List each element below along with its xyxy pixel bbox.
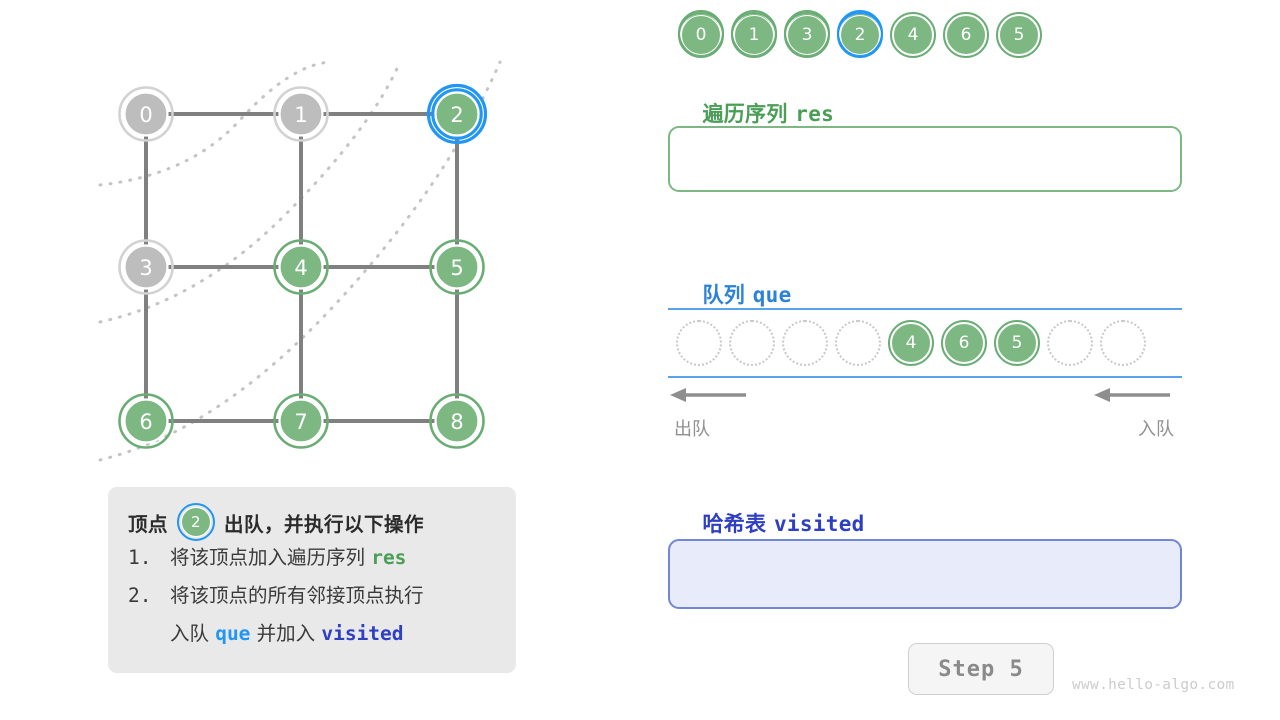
queue-rail-bottom [668, 376, 1182, 378]
chip-label: 5 [999, 15, 1039, 55]
visited-item-0[interactable]: 0 [678, 12, 724, 58]
queue-slot-empty[interactable] [835, 320, 881, 366]
chip-label [732, 323, 772, 363]
chip-label [838, 323, 878, 363]
caption-step-3-code-visited: visited [321, 615, 403, 653]
que-title-cn: 队列 [702, 283, 745, 307]
queue-slots: 465 [676, 310, 1146, 376]
caption-step-2-number: 2. [128, 577, 170, 615]
caption-badge-label: 2 [181, 507, 211, 537]
node-label: 3 [139, 256, 152, 280]
queue-slot-empty[interactable] [676, 320, 722, 366]
chip-label: 0 [681, 15, 721, 55]
caption-step-1-code: res [371, 539, 406, 577]
graph-node-4[interactable]: 4 [275, 241, 328, 294]
chip-label: 5 [997, 323, 1037, 363]
visited-item-6[interactable]: 6 [943, 12, 989, 58]
dequeue-label: 出队 [674, 415, 710, 441]
node-label: 7 [294, 410, 307, 434]
caption-step-1: 1. 将该顶点加入遍历序列 res [128, 539, 496, 577]
queue-slot-5[interactable]: 5 [994, 320, 1040, 366]
visited-item-2[interactable]: 2 [837, 12, 883, 58]
chip-label: 4 [891, 323, 931, 363]
node-label: 6 [139, 410, 152, 434]
caption-title-prefix: 顶点 [128, 508, 168, 537]
step-badge: Step 5 [908, 643, 1054, 695]
visited-item-5[interactable]: 5 [996, 12, 1042, 58]
res-title-code: res [795, 102, 834, 126]
res-title-cn: 遍历序列 [702, 102, 787, 126]
visited-items: 0132465 [678, 0, 1042, 70]
dequeue-arrow-icon [670, 385, 748, 409]
queue-slot-empty[interactable] [1047, 320, 1093, 366]
chip-label [785, 323, 825, 363]
node-label: 5 [450, 256, 463, 280]
caption-title: 顶点 2 出队，并执行以下操作 [128, 505, 496, 539]
visited-item-3[interactable]: 3 [784, 12, 830, 58]
queue-slot-empty[interactable] [782, 320, 828, 366]
node-label: 8 [450, 410, 463, 434]
que-title-code: que [753, 283, 792, 307]
chip-label: 6 [946, 15, 986, 55]
graph-node-3[interactable]: 3 [120, 241, 173, 294]
res-container [668, 126, 1182, 192]
chip-label: 4 [893, 15, 933, 55]
caption-box: 顶点 2 出队，并执行以下操作 1. 将该顶点加入遍历序列 res 2. 将该顶… [108, 487, 516, 673]
chip-label: 6 [944, 323, 984, 363]
graph-node-1[interactable]: 1 [275, 88, 328, 141]
caption-step-2-indent [128, 615, 170, 653]
enqueue-arrow-icon [1094, 385, 1172, 409]
watermark: www.hello-algo.com [1072, 677, 1235, 693]
graph-node-7[interactable]: 7 [275, 395, 328, 448]
caption-step-2: 2. 将该顶点的所有邻接顶点执行 [128, 577, 496, 615]
caption-step-3-text-a: 入队 [170, 615, 215, 653]
visited-title-code: visited [774, 512, 865, 536]
graph-canvas: 012345678 [0, 0, 620, 480]
visited-container [668, 539, 1182, 609]
graph-node-6[interactable]: 6 [120, 395, 173, 448]
chip-label: 2 [840, 15, 880, 55]
caption-step-3-code-que: que [215, 615, 250, 653]
graph-panel: 012345678 [0, 0, 620, 480]
chip-label: 3 [787, 15, 827, 55]
chip-label: 1 [734, 15, 774, 55]
caption-vertex-badge: 2 [177, 503, 215, 541]
visited-title-cn: 哈希表 [702, 512, 766, 536]
chip-label [1103, 323, 1143, 363]
caption-step-1-text: 将该顶点加入遍历序列 [170, 539, 371, 577]
visited-item-4[interactable]: 4 [890, 12, 936, 58]
chip-label [1050, 323, 1090, 363]
caption-title-suffix: 出队，并执行以下操作 [224, 508, 424, 537]
enqueue-label: 入队 [1138, 415, 1174, 441]
graph-node-5[interactable]: 5 [431, 241, 484, 294]
queue-slot-4[interactable]: 4 [888, 320, 934, 366]
node-label: 2 [450, 103, 463, 127]
queue-slot-empty[interactable] [1100, 320, 1146, 366]
graph-node-0[interactable]: 0 [120, 88, 173, 141]
graph-node-2[interactable]: 2 [429, 86, 486, 143]
caption-step-2-continued: 入队 que 并加入 visited [128, 615, 496, 653]
node-label: 1 [294, 103, 307, 127]
node-label: 0 [139, 103, 152, 127]
graph-node-8[interactable]: 8 [431, 395, 484, 448]
chip-label [679, 323, 719, 363]
node-label: 4 [294, 256, 307, 280]
queue-slot-empty[interactable] [729, 320, 775, 366]
right-panel: 遍历序列 res 0132 队列 que 465 出队 入队 哈希表 visit… [660, 0, 1280, 720]
queue-slot-6[interactable]: 6 [941, 320, 987, 366]
caption-step-2-text: 将该顶点的所有邻接顶点执行 [170, 577, 424, 615]
caption-step-1-number: 1. [128, 539, 170, 577]
visited-item-1[interactable]: 1 [731, 12, 777, 58]
caption-step-3-text-b: 并加入 [250, 615, 321, 653]
